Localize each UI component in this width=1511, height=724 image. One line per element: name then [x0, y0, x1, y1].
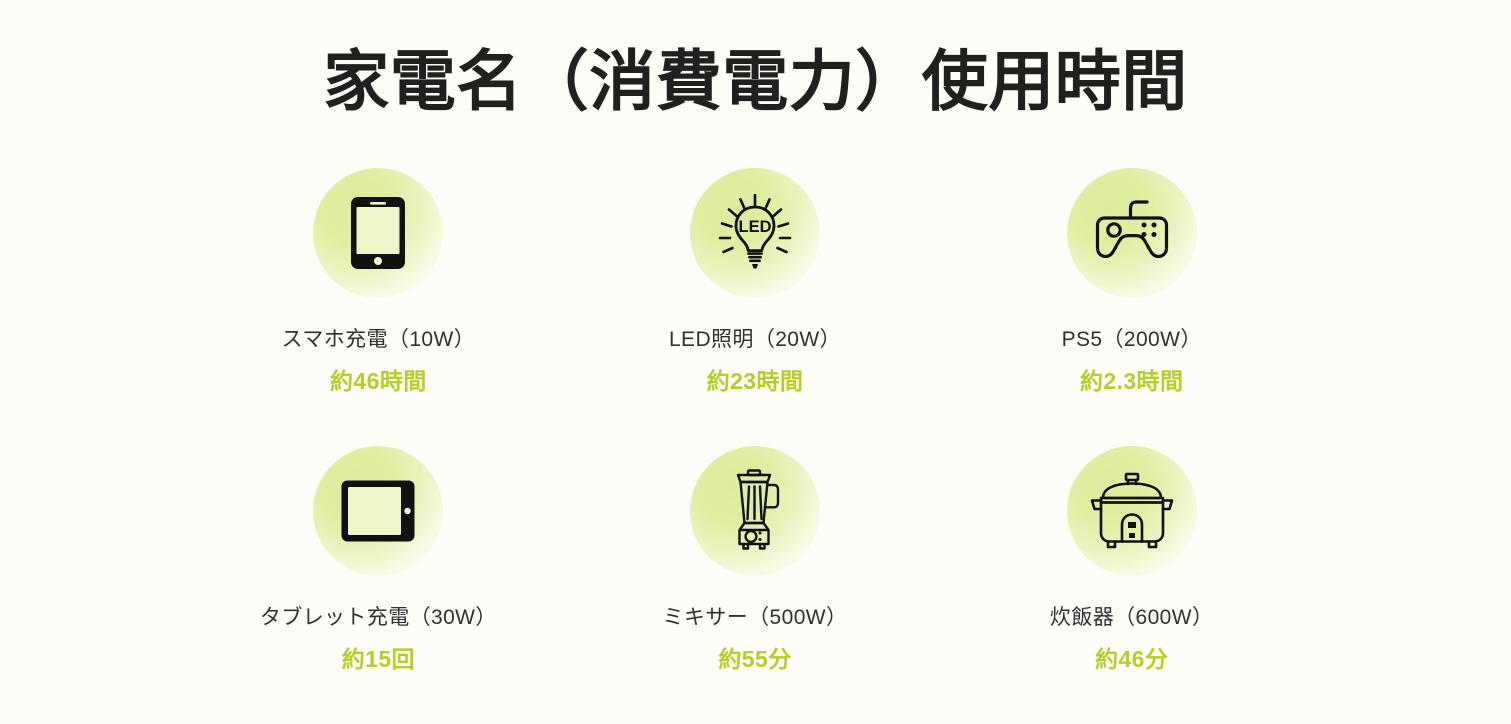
- appliance-value: 約55分: [718, 648, 791, 671]
- icon-badge: [1067, 168, 1197, 298]
- appliance-value: 約46時間: [330, 370, 427, 393]
- appliance-label: タブレット充電（30W）: [260, 607, 497, 628]
- appliance-card-led-lighting: LED LED照明（20W） 約23時間: [567, 168, 944, 446]
- tablet-icon: [340, 479, 416, 543]
- rice-cooker-icon: [1084, 471, 1180, 551]
- appliance-card-smartphone: スマホ充電（10W） 約46時間: [190, 168, 567, 446]
- appliance-label: LED照明（20W）: [669, 329, 841, 350]
- appliance-label: ミキサー（500W）: [663, 607, 848, 628]
- appliance-card-rice-cooker: 炊飯器（600W） 約46分: [943, 446, 1320, 724]
- svg-text:LED: LED: [738, 218, 771, 236]
- appliance-usage-infographic: 家電名（消費電力）使用時間 スマホ充電（10W） 約46時間: [0, 0, 1511, 718]
- appliance-card-ps5: PS5（200W） 約2.3時間: [943, 168, 1320, 446]
- led-bulb-icon: LED: [715, 192, 795, 274]
- appliance-label: スマホ充電（10W）: [282, 329, 476, 350]
- icon-badge: LED: [690, 168, 820, 298]
- appliance-card-tablet: タブレット充電（30W） 約15回: [190, 446, 567, 724]
- appliance-value: 約15回: [342, 648, 415, 671]
- icon-badge: [313, 168, 443, 298]
- appliance-value: 約2.3時間: [1080, 370, 1183, 393]
- appliance-grid: スマホ充電（10W） 約46時間: [190, 168, 1320, 724]
- icon-badge: [313, 446, 443, 576]
- blender-icon: [723, 468, 787, 554]
- appliance-value: 約23時間: [707, 370, 804, 393]
- appliance-value: 約46分: [1095, 648, 1168, 671]
- appliance-label: 炊飯器（600W）: [1050, 607, 1213, 628]
- appliance-label: PS5（200W）: [1062, 329, 1202, 350]
- gamepad-icon: [1091, 197, 1173, 269]
- page-title: 家電名（消費電力）使用時間: [0, 44, 1511, 120]
- smartphone-icon: [350, 196, 406, 270]
- icon-badge: [690, 446, 820, 576]
- icon-badge: [1067, 446, 1197, 576]
- appliance-card-blender: ミキサー（500W） 約55分: [567, 446, 944, 724]
